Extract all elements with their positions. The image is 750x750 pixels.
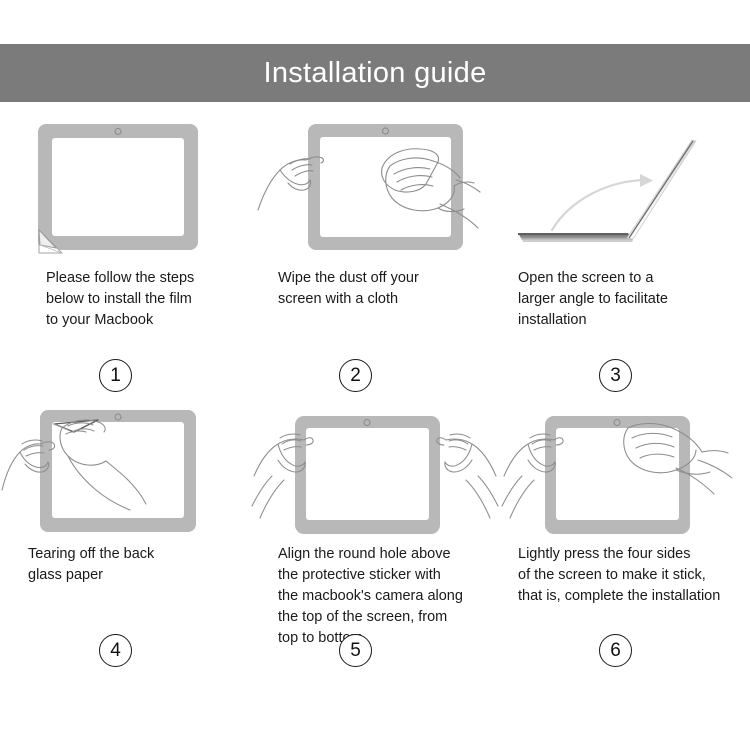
step-3-caption: Open the screen to a larger angle to fac… <box>500 268 750 331</box>
step-1-illustration <box>0 112 250 262</box>
step-4-number: 4 <box>110 641 121 660</box>
step-2-number-badge: 2 <box>339 359 372 392</box>
step-3-number: 3 <box>610 366 621 385</box>
step-2-caption: Wipe the dust off your screen with a clo… <box>250 268 500 310</box>
step-card-6: Lightly press the four sides of the scre… <box>500 398 750 649</box>
step-6-caption: Lightly press the four sides of the scre… <box>500 544 750 607</box>
installation-steps-grid: Please follow the steps below to install… <box>0 112 750 649</box>
hand-wiping-screen-with-cloth-icon <box>250 112 500 262</box>
step-card-1: Please follow the steps below to install… <box>0 112 250 398</box>
step-5-caption: Align the round hole above the protectiv… <box>250 544 500 649</box>
hand-pressing-film-icon <box>500 398 750 538</box>
step-card-4: Tearing off the back glass paper 4 <box>0 398 250 649</box>
laptop-opening-side-view-icon <box>500 112 750 262</box>
header-bar: Installation guide <box>0 44 750 102</box>
step-4-illustration <box>0 398 250 538</box>
page-title: Installation guide <box>263 59 486 88</box>
two-hands-aligning-film-icon <box>250 398 500 538</box>
step-1-caption: Please follow the steps below to install… <box>0 268 250 331</box>
step-5-illustration <box>250 398 500 538</box>
step-6-number-badge: 6 <box>599 634 632 667</box>
tablet-with-peeling-film-corner-icon <box>0 112 250 262</box>
step-1-number-badge: 1 <box>99 359 132 392</box>
two-hands-peeling-back-paper-icon <box>0 398 250 538</box>
step-3-number-badge: 3 <box>599 359 632 392</box>
step-2-number: 2 <box>350 366 361 385</box>
step-1-number: 1 <box>110 366 121 385</box>
step-5-number: 5 <box>350 641 361 660</box>
step-6-illustration <box>500 398 750 538</box>
step-3-illustration <box>500 112 750 262</box>
step-card-2: Wipe the dust off your screen with a clo… <box>250 112 500 398</box>
step-6-number: 6 <box>610 641 621 660</box>
step-2-illustration <box>250 112 500 262</box>
step-card-3: Open the screen to a larger angle to fac… <box>500 112 750 398</box>
step-4-caption: Tearing off the back glass paper <box>0 544 250 586</box>
step-card-5: Align the round hole above the protectiv… <box>250 398 500 649</box>
step-4-number-badge: 4 <box>99 634 132 667</box>
step-5-number-badge: 5 <box>339 634 372 667</box>
